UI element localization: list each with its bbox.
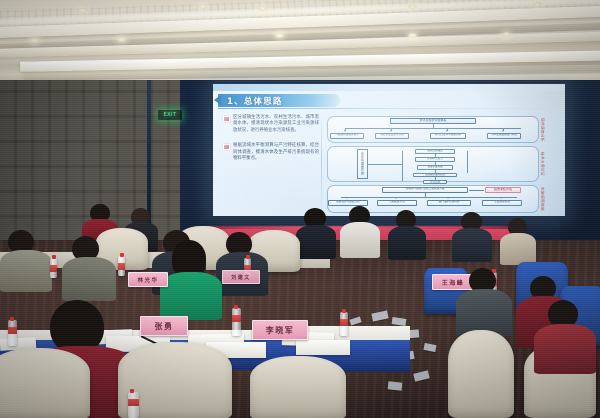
banquet-chair[interactable] [0,348,90,418]
flow-node: 长效保障机制 [482,200,522,206]
name-placard: 王海峰 [432,274,474,290]
downlight [78,8,87,13]
placard-name: 林光华 [137,276,158,284]
bottle-cap [10,317,14,321]
torso [296,225,336,259]
banquet-chair[interactable] [250,356,346,418]
torso [388,226,426,260]
flow-node: 分期实施计划 [377,200,417,206]
water-bottle [232,308,241,336]
downlight [408,4,417,9]
water-bottle [128,392,139,418]
bottle-cap [120,253,124,257]
flow-node: 运行维护管理机制 [427,200,471,206]
name-placard: 张勇 [140,316,188,336]
flow-node: 污水处理设施运行评估 [487,133,521,139]
water-bottle [8,320,17,346]
torso [500,233,536,265]
bottle-cap [130,389,134,393]
connector [345,128,521,129]
downlight [408,33,417,38]
bullet-text: 根据流域水平衡测算与产污特征核算，结合同体调查，摸清水体及生产排污系统现有的物料… [233,143,319,162]
connector [402,151,403,181]
downlight [258,6,267,11]
name-placard: 林光华 [128,272,168,287]
torso [534,324,596,374]
placard-name: 张勇 [155,321,174,332]
connector [425,193,426,198]
bullet-text: 区分城镇生活污水、农村生活污水、城市黑臭水体，摸清现状水污染源及工业污染源排放状… [233,115,319,134]
slide-flowchart: 现状调查分析 水环境现状评估体系 污染源排放现状调查 水质水量监测与分析 排污口… [327,112,559,214]
arrow-icon [447,197,449,199]
flow-node: 方案比选 [423,180,447,184]
bullet-square-icon [223,144,230,150]
flow-node: 污染源排放现状调查 [330,133,364,139]
exit-sign: EXIT [158,110,182,120]
arrow-icon [344,130,346,132]
slide-title-banner: 1、总体思路 [218,94,340,107]
bottle-cap [246,255,250,259]
bottle-label [232,315,241,322]
slide-top-bar [213,84,565,91]
document [296,340,350,355]
downlight [533,2,542,7]
ceiling [0,0,600,92]
torso [160,272,222,320]
torso [452,228,492,262]
placard-name: 刘建文 [231,274,251,281]
right-wall-panel [560,80,600,255]
slide-title: 1、总体思路 [218,95,283,107]
flow-side-block: 水环境容量计算 [357,149,368,179]
placard-name: 李晓军 [266,325,295,336]
bullet-square-icon [223,116,230,122]
arrow-icon [346,197,348,199]
name-placard: 刘建文 [222,270,260,284]
banquet-chair[interactable] [448,330,514,418]
bottle-label [50,265,57,272]
bottle-label [128,399,139,406]
slide-column-divider [321,112,322,212]
arrow-icon [446,130,448,132]
floor-paper [388,381,403,390]
flow-group-label: 技术方案论证 [540,152,545,176]
downlight [30,38,39,43]
torso [0,250,52,292]
bottle-cap [52,255,56,259]
projection-screen: 1、总体思路 区分城镇生活污水、农村生活污水、城市黑臭水体，摸清现状水污染源及工… [213,84,565,216]
connector [368,164,402,165]
torso [340,222,380,258]
arrow-icon [500,197,502,199]
arrow-icon [502,130,504,132]
bottle-label [8,327,17,334]
bottle-cap [234,305,238,309]
flow-node: 排污口普查与溯源分析 [430,133,466,139]
flow-node-highlight: 绩效考核评估 [485,187,521,194]
list-item: 根据流域水平衡测算与产污特征核算，结合同体调查，摸清水体及生产排污系统现有的物料… [223,143,319,162]
flow-group-label: 现状调查分析 [540,118,545,142]
flow-node: 水质水量监测与分析 [375,133,409,139]
water-bottle [50,258,57,278]
slide-title-underline [218,108,560,109]
connector [469,190,484,191]
placard-name: 陈洁 [94,261,129,285]
downlight [117,37,126,42]
arrow-icon [390,130,392,132]
downlight [198,4,207,9]
bottle-label [340,319,348,326]
water-bottle [340,312,348,336]
connector [341,197,517,198]
downlight [502,32,511,37]
arrow-icon [395,197,397,199]
placard-name: 王海峰 [442,278,465,287]
bottle-cap [342,309,346,313]
conference-room-scene: EXIT 1、总体思路 区分城镇生活污水、农村生活污水、城市黑臭水体，摸清现状水… [0,0,600,418]
name-placard: 李晓军 [252,320,308,340]
flow-node: 投资估算与效益分析 [328,200,368,206]
downlight [275,33,284,38]
exit-sign-label: EXIT [163,112,176,118]
flow-group-label: 实施保障措施 [540,187,545,211]
list-item: 区分城镇生活污水、农村生活污水、城市黑臭水体，摸清现状水污染源及工业污染源排放状… [223,115,319,134]
slide-bullet-list: 区分城镇生活污水、农村生活污水、城市黑臭水体，摸清现状水污染源及工业污染源排放状… [223,115,319,171]
connector [467,151,468,173]
